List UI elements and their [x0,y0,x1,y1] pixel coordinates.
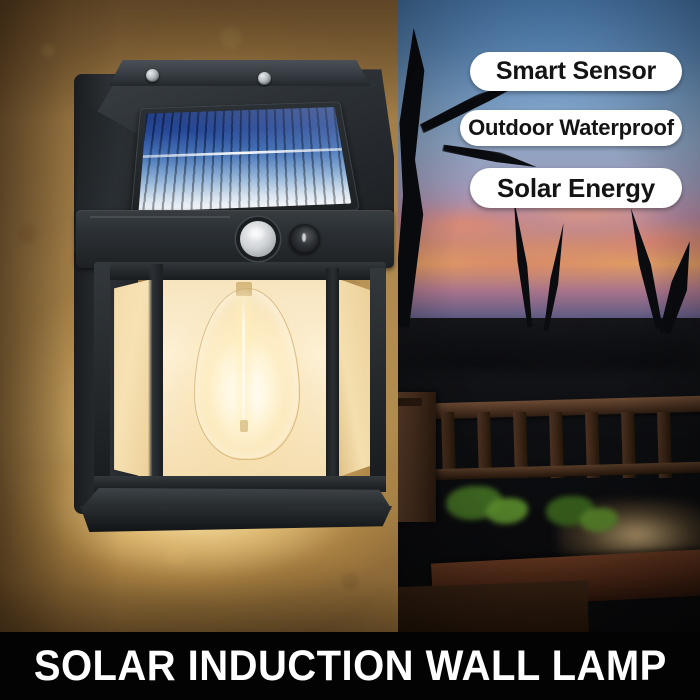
bulb-stem [236,282,252,296]
bulb-filament [242,298,245,426]
frame-bar-right [370,268,386,486]
solar-panel-cells [138,107,351,212]
lantern-housing [94,262,386,498]
bottom-title-banner: SOLAR INDUCTION WALL LAMP [0,632,700,700]
feature-badge-label: Solar Energy [497,173,655,204]
feature-badge-list: Smart Sensor Outdoor Waterproof Solar En… [398,0,700,632]
frame-bar-left [94,262,110,492]
feature-badge-solar-energy: Solar Energy [470,168,682,208]
feature-badge-outdoor-waterproof: Outdoor Waterproof [460,110,682,146]
product-title: SOLAR INDUCTION WALL LAMP [34,642,667,691]
solar-wall-lamp [72,58,397,536]
light-sensor-icon [289,224,320,254]
motion-sensor-icon [240,221,276,257]
solar-panel-glare [138,107,351,212]
lamp-hood-top-edge [98,60,370,86]
feature-badge-label: Outdoor Waterproof [468,115,674,141]
bulb-tip [240,420,248,432]
feature-badge-label: Smart Sensor [496,57,656,86]
product-poster: Smart Sensor Outdoor Waterproof Solar En… [0,0,700,700]
screw-icon [258,72,271,85]
sensor-bar [76,210,394,268]
glass-pane-right [330,276,382,480]
screw-icon [146,69,159,82]
feature-badge-smart-sensor: Smart Sensor [470,52,682,91]
right-lifestyle-photo: Smart Sensor Outdoor Waterproof Solar En… [398,0,700,632]
left-product-photo [0,0,398,632]
glass-pane-left [100,276,164,482]
solar-panel [130,101,360,219]
